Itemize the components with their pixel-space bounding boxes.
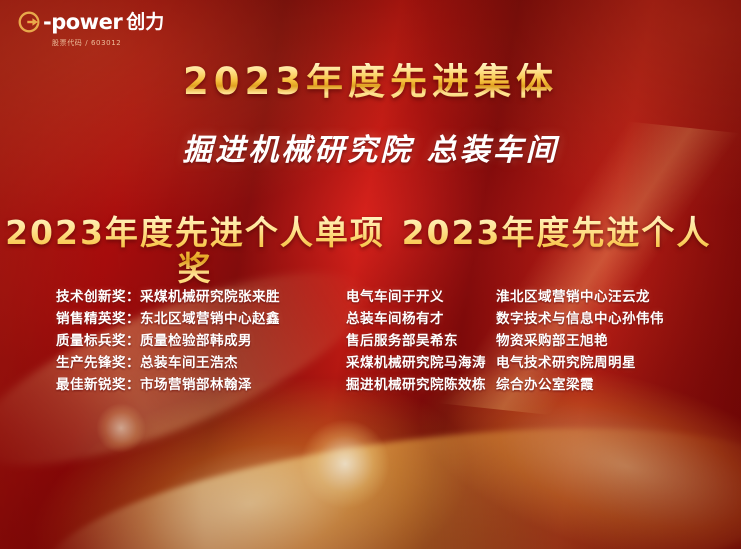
company-logo: -power 创力 股票代码 / 603012 [18, 11, 218, 48]
sparkle-glow-b [96, 403, 146, 453]
list-item: 最佳新锐奖：市场营销部林翰泽 [56, 374, 340, 396]
list-row: 售后服务部吴希东 物资采购部王旭艳 [346, 330, 741, 352]
gold-ribbon-center [32, 393, 741, 549]
sparkle-glow-a [300, 419, 390, 509]
list-item: 物资采购部王旭艳 [496, 330, 741, 352]
list-item: 淮北区域营销中心汪云龙 [496, 286, 741, 308]
list-item: 总装车间杨有才 [346, 308, 496, 330]
section-headings: 2023年度先进个人单项奖 2023年度先进个人 [0, 215, 741, 288]
list-item: 技术创新奖：采煤机械研究院张来胜 [56, 286, 340, 308]
list-item: 售后服务部吴希东 [346, 330, 496, 352]
list-item: 质量标兵奖：质量检验部韩成男 [56, 330, 340, 352]
list-item: 综合办公室梁霞 [496, 374, 741, 396]
list-row: 电气车间于开义 淮北区域营销中心汪云龙 [346, 286, 741, 308]
list-item: 生产先锋奖：总装车间王浩杰 [56, 352, 340, 374]
list-item: 数字技术与信息中心孙伟伟 [496, 308, 741, 330]
list-item: 采煤机械研究院马海涛 [346, 352, 496, 374]
g-power-logo-icon [18, 11, 40, 33]
award-poster: -power 创力 股票代码 / 603012 2023年度先进集体 掘进机械研… [0, 0, 741, 549]
single-award-list: 技术创新奖：采煤机械研究院张来胜 销售精英奖：东北区域营销中心赵鑫 质量标兵奖：… [0, 286, 340, 396]
heading-single-awards: 2023年度先进个人单项奖 [0, 215, 390, 288]
list-item: 销售精英奖：东北区域营销中心赵鑫 [56, 308, 340, 330]
collective-winners: 掘进机械研究院 总装车间 [0, 136, 741, 166]
advanced-individual-list: 电气车间于开义 淮北区域营销中心汪云龙 总装车间杨有才 数字技术与信息中心孙伟伟… [340, 286, 741, 396]
logo-name-cn: 创力 [126, 13, 164, 32]
list-row: 总装车间杨有才 数字技术与信息中心孙伟伟 [346, 308, 741, 330]
winner-lists: 技术创新奖：采煤机械研究院张来胜 销售精英奖：东北区域营销中心赵鑫 质量标兵奖：… [0, 286, 741, 396]
stock-code-label: 股票代码 / 603012 [52, 38, 218, 48]
list-item: 掘进机械研究院陈效栋 [346, 374, 496, 396]
heading-advanced-individual: 2023年度先进个人 [390, 215, 741, 288]
list-row: 掘进机械研究院陈效栋 综合办公室梁霞 [346, 374, 741, 396]
logo-wordmark: -power [43, 12, 122, 33]
list-item: 电气车间于开义 [346, 286, 496, 308]
page-title: 2023年度先进集体 [0, 63, 741, 100]
list-row: 采煤机械研究院马海涛 电气技术研究院周明星 [346, 352, 741, 374]
list-item: 电气技术研究院周明星 [496, 352, 741, 374]
